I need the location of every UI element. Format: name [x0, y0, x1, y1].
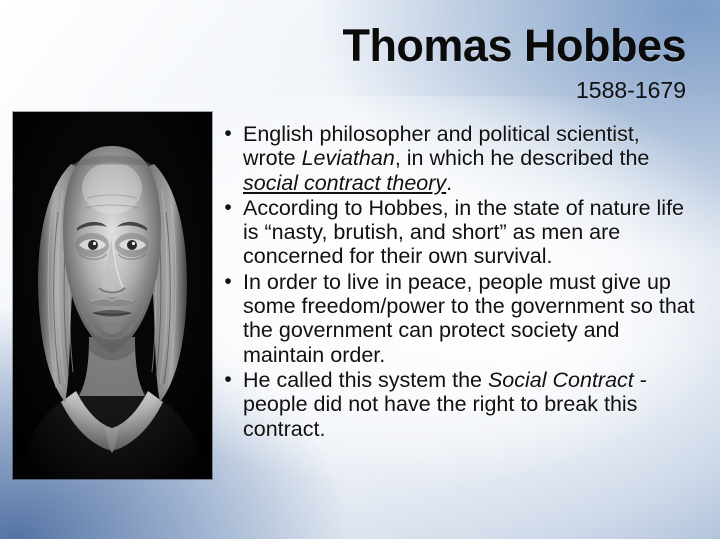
bullet-text-3: In order to live in peace, people must g…	[243, 270, 695, 367]
bullet-1-part-3: , in which he described the	[395, 146, 650, 170]
list-item: • In order to live in peace, people must…	[213, 270, 695, 367]
hobbes-portrait-illustration	[13, 112, 212, 479]
bullet-text-1: English philosopher and political scient…	[243, 122, 695, 195]
list-item: • He called this system the Social Contr…	[213, 368, 695, 441]
lifespan-subtitle: 1588-1679	[240, 78, 686, 103]
bullet-marker-icon: •	[213, 196, 243, 220]
bullet-marker-icon: •	[213, 270, 243, 294]
bullet-1-part-5: .	[446, 171, 452, 195]
bullet-text-2: According to Hobbes, in the state of nat…	[243, 196, 695, 269]
bullet-marker-icon: •	[213, 368, 243, 392]
bullet-4-part-1: He called this system the	[243, 368, 488, 392]
bullet-marker-icon: •	[213, 122, 243, 146]
bullet-1-title-leviathan: Leviathan	[302, 146, 395, 170]
bullet-1-term-social-contract-theory: social contract theory	[243, 171, 446, 195]
bullet-text-4: He called this system the Social Contrac…	[243, 368, 695, 441]
list-item: • According to Hobbes, in the state of n…	[213, 196, 695, 269]
bullet-4-term-social-contract: Social Contract	[488, 368, 634, 392]
page-title: Thomas Hobbes	[240, 22, 686, 69]
list-item: • English philosopher and political scie…	[213, 122, 695, 195]
presentation-slide: Thomas Hobbes 1588-1679	[0, 0, 720, 539]
bullet-list: • English philosopher and political scie…	[213, 122, 695, 442]
portrait-image	[13, 112, 212, 479]
